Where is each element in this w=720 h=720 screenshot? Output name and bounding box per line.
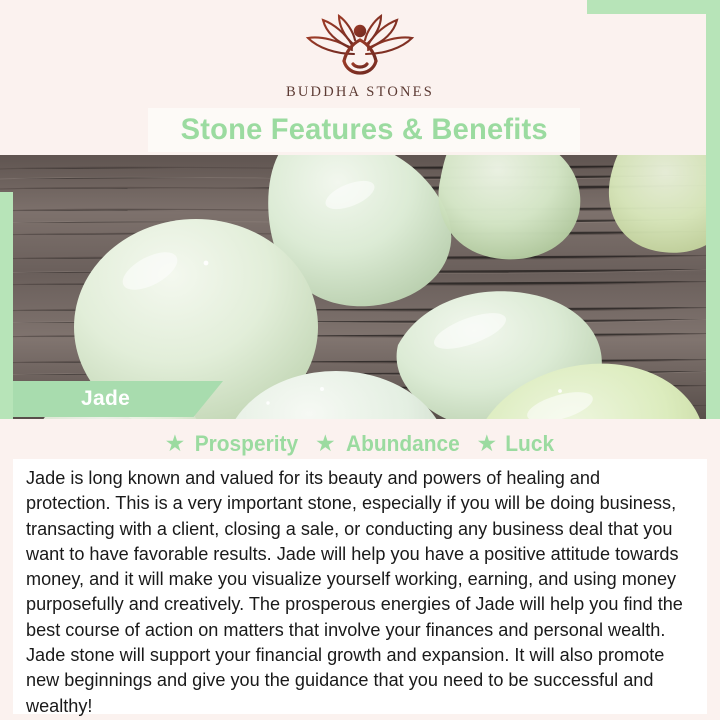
benefit-item: ★ Prosperity [165, 431, 301, 457]
description-panel: Jade is long known and valued for its be… [13, 459, 707, 714]
benefit-item: ★ Luck [476, 431, 555, 457]
stone-photo-illustration [0, 155, 720, 419]
stone-name-label: Jade [81, 387, 130, 411]
benefit-label: Luck [505, 431, 554, 457]
brand-name: BUDDHA STONES [286, 84, 434, 101]
benefits-row: ★ Prosperity ★ Abundance ★ Luck [0, 431, 720, 457]
benefit-label: Prosperity [195, 431, 298, 457]
lotus-meditation-icon [296, 14, 424, 80]
star-icon: ★ [165, 432, 186, 455]
title-banner: Stone Features & Benefits [148, 108, 580, 152]
star-icon: ★ [315, 432, 336, 455]
content-area: ★ Prosperity ★ Abundance ★ Luck Jade is … [0, 419, 720, 720]
stone-name-band: Jade [13, 381, 223, 417]
description-text: Jade is long known and valued for its be… [26, 465, 685, 718]
stone-photo [0, 155, 720, 419]
page-title: Stone Features & Benefits [180, 113, 547, 147]
stone-info-poster: BUDDHA STONES Stone Features & Benefits [0, 0, 720, 720]
benefit-item: ★ Abundance [315, 431, 462, 457]
star-icon: ★ [476, 432, 497, 455]
decorative-frame-top-right [587, 0, 720, 14]
benefit-label: Abundance [346, 431, 460, 457]
